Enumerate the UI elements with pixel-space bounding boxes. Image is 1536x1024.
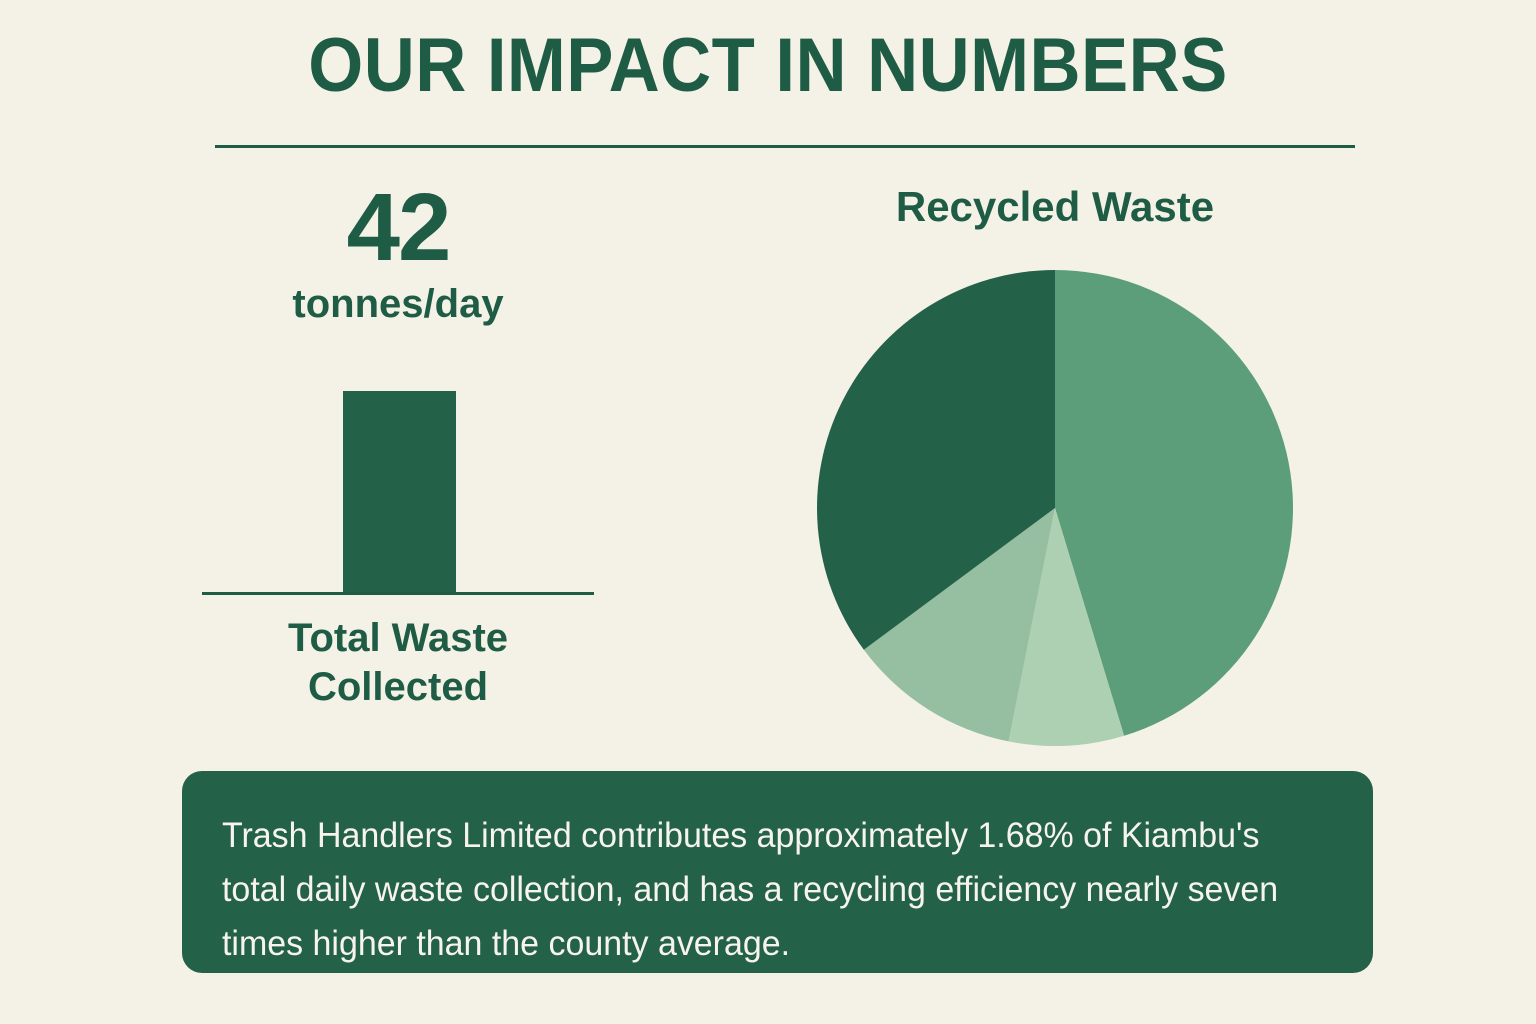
bar-chart-caption: Total Waste Collected (200, 614, 596, 712)
pie-chart-title: Recycled Waste (820, 186, 1290, 228)
recycled-waste-pie-chart: 45% Organic waste 58% Plastics 15% Paper… (817, 270, 1293, 746)
title-divider (215, 145, 1355, 148)
page-title: OUR IMPACT IN NUMBERS (54, 28, 1482, 104)
stat-unit: tonnes/day (200, 282, 596, 326)
bar-caption-line-1: Total Waste (200, 614, 596, 663)
total-waste-bar-chart (202, 370, 594, 595)
stat-value: 42 (200, 180, 596, 276)
pie-svg (817, 270, 1293, 746)
summary-callout-box: Trash Handlers Limited contributes appro… (182, 771, 1373, 973)
total-waste-stat-block: 42 tonnes/day (200, 180, 596, 326)
bar-total-waste (343, 391, 456, 592)
bar-baseline-axis (202, 592, 594, 595)
summary-callout-text: Trash Handlers Limited contributes appro… (222, 809, 1300, 971)
bar-caption-line-2: Collected (200, 663, 596, 712)
